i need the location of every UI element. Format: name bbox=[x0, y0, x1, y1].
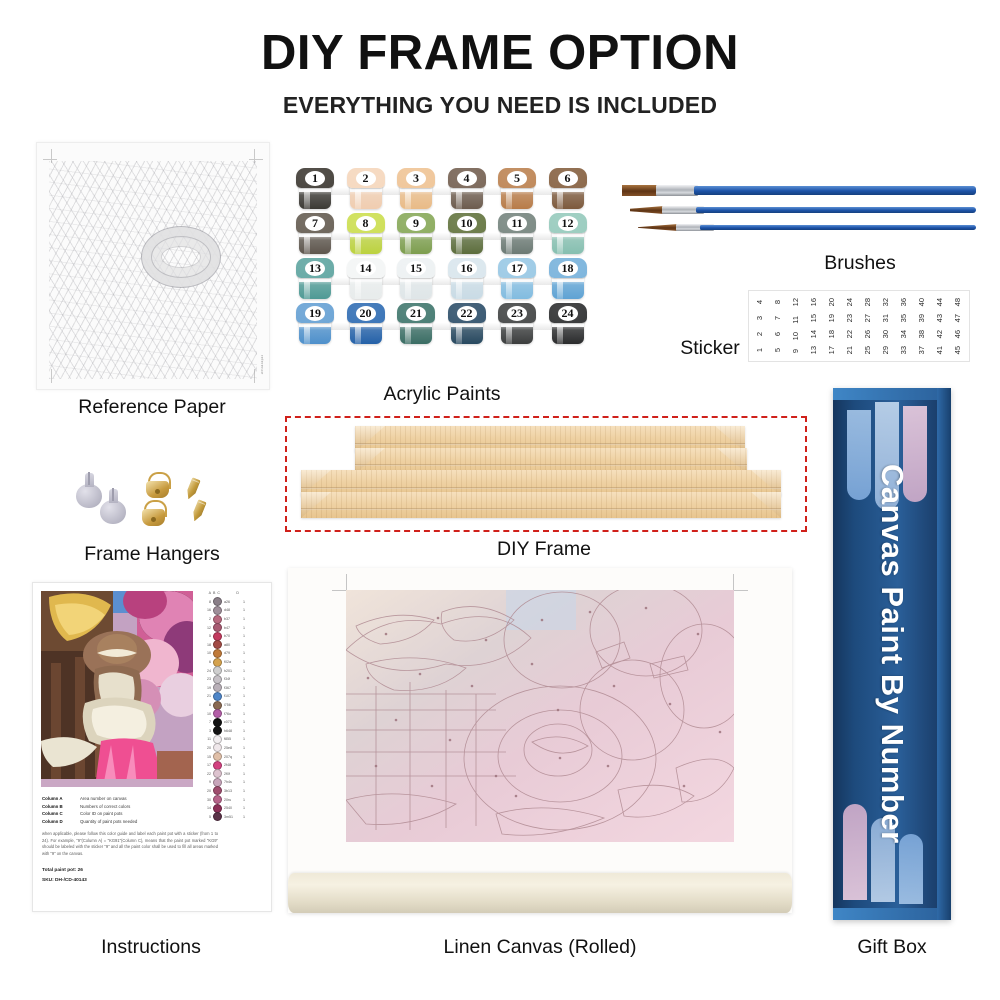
legend-color-code: b70 bbox=[224, 634, 241, 638]
sticker-number: 18 bbox=[828, 330, 836, 338]
legend-color-code: 20ru bbox=[224, 798, 241, 802]
legend-color-swatch bbox=[213, 709, 222, 718]
pot-number: 14 bbox=[347, 258, 385, 278]
legend-color-code: 2540 bbox=[224, 806, 241, 810]
legend-row: 6f02a1 bbox=[203, 658, 265, 667]
legend-area-number: 17 bbox=[203, 763, 211, 767]
pot-number: 11 bbox=[498, 213, 536, 233]
sticker-number: 20 bbox=[828, 298, 836, 306]
pot-highlight bbox=[506, 185, 512, 209]
pot-highlight bbox=[304, 275, 310, 299]
gift-box-line2: Paint By Number bbox=[875, 587, 910, 844]
pot-highlight bbox=[405, 185, 411, 209]
legend-quantity: 1 bbox=[243, 600, 249, 604]
legend-color-swatch bbox=[213, 683, 222, 692]
sticker-number: 25 bbox=[864, 346, 872, 354]
sticker-number: 14 bbox=[810, 330, 818, 338]
sticker-column-12: 45464748 bbox=[949, 294, 967, 358]
frame-plank bbox=[301, 492, 781, 518]
legend-quantity: 1 bbox=[243, 815, 249, 819]
paint-pot-row: 131415161718 bbox=[296, 258, 588, 303]
legend-color-code: i756 bbox=[224, 703, 241, 707]
sticker-number: 33 bbox=[900, 346, 908, 354]
caption-sticker: Sticker bbox=[655, 337, 765, 360]
legend-row: 5b701 bbox=[203, 632, 265, 641]
sticker-column-6: 21222324 bbox=[841, 294, 859, 358]
legend-area-number: 11 bbox=[203, 737, 211, 741]
sticker-number: 31 bbox=[882, 314, 890, 322]
sticker-number: 40 bbox=[918, 298, 926, 306]
page-title: DIY FRAME OPTION bbox=[0, 28, 1000, 79]
legend-row: 8a261 bbox=[203, 598, 265, 607]
legend-quantity: 1 bbox=[243, 755, 249, 759]
paint-pot-11: 11 bbox=[498, 213, 536, 256]
legend-color-swatch bbox=[213, 726, 222, 735]
sticker-number: 46 bbox=[954, 330, 962, 338]
legend-quantity: 1 bbox=[243, 626, 249, 630]
sticker-number: 6 bbox=[774, 332, 782, 336]
pot-number: 7 bbox=[296, 213, 334, 233]
sticker-number: 11 bbox=[792, 316, 800, 324]
sticker-number: 8 bbox=[774, 300, 782, 304]
pot-highlight bbox=[405, 320, 411, 344]
legend-row: 8i7561 bbox=[203, 701, 265, 710]
caption-instructions: Instructions bbox=[32, 936, 270, 959]
sticker-number: 47 bbox=[954, 314, 962, 322]
legend-color-code: b37 bbox=[224, 617, 241, 621]
paint-pot-7: 7 bbox=[296, 213, 334, 256]
sticker-number: 35 bbox=[900, 314, 908, 322]
legend-quantity: 1 bbox=[243, 737, 249, 741]
sticker-sheet-image: 1234567891011121314151617181920212223242… bbox=[748, 290, 970, 362]
paint-pot-24: 24 bbox=[549, 303, 587, 346]
paint-pot-1: 1 bbox=[296, 168, 334, 211]
pot-highlight bbox=[456, 320, 462, 344]
legend-area-number: 22 bbox=[203, 772, 211, 776]
pot-number: 17 bbox=[498, 258, 536, 278]
sticker-number: 7 bbox=[774, 316, 782, 320]
sticker-number: 30 bbox=[882, 330, 890, 338]
sticker-column-3: 9101112 bbox=[787, 294, 805, 358]
legend-color-code: f02a bbox=[224, 660, 241, 664]
legend-header: C bbox=[217, 591, 234, 595]
pot-number: 24 bbox=[549, 303, 587, 323]
caption-gift-box: Gift Box bbox=[833, 936, 951, 959]
instruction-column-text: Numbers of correct colors bbox=[80, 804, 130, 809]
brushes-image bbox=[616, 178, 976, 248]
legend-quantity: 1 bbox=[243, 763, 249, 767]
frame-hangers-image bbox=[72, 466, 232, 534]
legend-color-swatch bbox=[213, 769, 222, 778]
sticker-number: 34 bbox=[900, 330, 908, 338]
legend-quantity: 1 bbox=[243, 634, 249, 638]
legend-color-swatch bbox=[213, 692, 222, 701]
gift-box-image: Canvas Paint By Number bbox=[833, 388, 951, 920]
brush-liner bbox=[638, 225, 976, 230]
sticker-number: 12 bbox=[792, 298, 800, 306]
sticker-number: 41 bbox=[936, 346, 944, 354]
legend-quantity: 1 bbox=[243, 669, 249, 673]
instruction-column-label: Column B bbox=[42, 803, 80, 811]
sticker-number: 38 bbox=[918, 330, 926, 338]
legend-quantity: 1 bbox=[243, 729, 249, 733]
legend-color-code: f76u bbox=[224, 712, 241, 716]
page-subtitle: EVERYTHING YOU NEED IS INCLUDED bbox=[0, 92, 1000, 119]
pot-number: 15 bbox=[397, 258, 435, 278]
pot-number: 18 bbox=[549, 258, 587, 278]
pot-number: 20 bbox=[347, 303, 385, 323]
legend-row: 172f481 bbox=[203, 761, 265, 770]
legend-color-code: f34f bbox=[224, 677, 241, 681]
sticker-column-2: 5678 bbox=[769, 294, 787, 358]
sticker-number: 44 bbox=[936, 298, 944, 306]
sticker-column-5: 17181920 bbox=[823, 294, 841, 358]
pot-number: 21 bbox=[397, 303, 435, 323]
sticker-number: 45 bbox=[954, 346, 962, 354]
caption-reference-paper: Reference Paper bbox=[36, 396, 268, 419]
sticker-number: 37 bbox=[918, 346, 926, 354]
legend-header: B bbox=[213, 591, 215, 595]
gift-box-line1: Canvas bbox=[875, 464, 910, 577]
sticker-number: 43 bbox=[936, 314, 944, 322]
legend-area-number: 6 bbox=[203, 660, 211, 664]
legend-color-code: h201 bbox=[224, 669, 241, 673]
brush-round bbox=[630, 207, 976, 213]
sticker-number: 27 bbox=[864, 314, 872, 322]
legend-area-number: 7 bbox=[203, 720, 211, 724]
legend-row: 7c0731 bbox=[203, 718, 265, 727]
pot-number: 9 bbox=[397, 213, 435, 233]
sticker-number: 19 bbox=[828, 314, 836, 322]
screw-icon bbox=[190, 499, 207, 523]
paint-pot-12: 12 bbox=[549, 213, 587, 256]
legend-row: 2025e81 bbox=[203, 744, 265, 753]
legend-row: 2b371 bbox=[203, 615, 265, 624]
gift-box-label: Canvas Paint By Number bbox=[833, 388, 951, 920]
legend-color-code: c073 bbox=[224, 720, 241, 724]
d-ring-hanger-icon bbox=[142, 500, 165, 526]
legend-color-code: 2f0f bbox=[224, 772, 241, 776]
paint-pot-8: 8 bbox=[347, 213, 385, 256]
legend-quantity: 1 bbox=[243, 720, 249, 724]
caption-linen-canvas: Linen Canvas (Rolled) bbox=[288, 936, 792, 959]
caption-acrylic-paints: Acrylic Paints bbox=[296, 383, 588, 406]
legend-row: 12b471 bbox=[203, 623, 265, 632]
pot-number: 10 bbox=[448, 213, 486, 233]
legend-row: 18a801 bbox=[203, 641, 265, 650]
legend-area-number: 16 bbox=[203, 608, 211, 612]
preview-painting bbox=[41, 591, 193, 787]
legend-header: D bbox=[236, 591, 242, 595]
pot-highlight bbox=[506, 275, 512, 299]
instruction-column-row: Column AArea number on canvas bbox=[42, 795, 222, 803]
reference-line-art bbox=[49, 161, 257, 379]
legend-area-number: 24 bbox=[203, 669, 211, 673]
legend-area-number: 21 bbox=[203, 694, 211, 698]
legend-row: 15207q1 bbox=[203, 752, 265, 761]
pot-number: 4 bbox=[448, 168, 486, 188]
pot-highlight bbox=[355, 320, 361, 344]
total-paint-pot: Total paint pot: 26 bbox=[42, 866, 218, 876]
paint-pot-23: 23 bbox=[498, 303, 536, 346]
legend-color-code: 2f48 bbox=[224, 763, 241, 767]
pot-number: 8 bbox=[347, 213, 385, 233]
linen-canvas-image bbox=[288, 568, 792, 913]
legend-area-number: 12 bbox=[203, 626, 211, 630]
legend-quantity: 1 bbox=[243, 789, 249, 793]
legend-row: 10d791 bbox=[203, 649, 265, 658]
pot-highlight bbox=[557, 230, 563, 254]
canvas-roll bbox=[288, 873, 792, 913]
legend-row: 11f8551 bbox=[203, 735, 265, 744]
sticker-column-11: 41424344 bbox=[931, 294, 949, 358]
legend-area-number: 2 bbox=[203, 617, 211, 621]
pot-highlight bbox=[355, 275, 361, 299]
reference-sidebar-text: reference bbox=[260, 355, 265, 375]
legend-color-swatch bbox=[213, 666, 222, 675]
sticker-column-10: 37383940 bbox=[913, 294, 931, 358]
instructions-sheet-image: ABCD8a26116d4812b37112b4715b70118a80110d… bbox=[32, 582, 272, 912]
sticker-column-7: 25262728 bbox=[859, 294, 877, 358]
paint-pot-row: 192021222324 bbox=[296, 303, 588, 348]
pot-highlight bbox=[557, 320, 563, 344]
instruction-column-row: Column DQuantity of paint pots needed bbox=[42, 818, 222, 826]
sticker-number: 22 bbox=[846, 330, 854, 338]
paint-pot-20: 20 bbox=[347, 303, 385, 346]
pot-highlight bbox=[456, 185, 462, 209]
caption-diy-frame: DIY Frame bbox=[285, 538, 803, 561]
legend-quantity: 1 bbox=[243, 617, 249, 621]
instruction-column-text: Area number on canvas bbox=[80, 796, 127, 801]
sticker-number: 15 bbox=[810, 314, 818, 322]
sticker-number: 3 bbox=[756, 316, 764, 320]
legend-area-number: 15 bbox=[203, 755, 211, 759]
sticker-number: 42 bbox=[936, 330, 944, 338]
paint-pot-row: 789101112 bbox=[296, 213, 588, 258]
paint-pot-19: 19 bbox=[296, 303, 334, 346]
sticker-number: 29 bbox=[882, 346, 890, 354]
pot-highlight bbox=[557, 275, 563, 299]
sticker-number: 17 bbox=[828, 346, 836, 354]
legend-area-number: 20 bbox=[203, 746, 211, 750]
legend-row: 222f0f1 bbox=[203, 769, 265, 778]
legend-row: 10f76u1 bbox=[203, 709, 265, 718]
reference-hat-outline bbox=[141, 226, 221, 288]
pot-highlight bbox=[506, 230, 512, 254]
instructions-column-key: Column AArea number on canvasColumn BNum… bbox=[42, 795, 222, 825]
legend-color-code: h648 bbox=[224, 729, 241, 733]
pot-number: 6 bbox=[549, 168, 587, 188]
sticker-number: 26 bbox=[864, 330, 872, 338]
legend-row: 97h4s1 bbox=[203, 778, 265, 787]
canvas-printed-outline bbox=[346, 590, 734, 842]
pot-number: 1 bbox=[296, 168, 334, 188]
paint-pot-5: 5 bbox=[498, 168, 536, 211]
screw-icon bbox=[184, 477, 201, 501]
pot-highlight bbox=[304, 230, 310, 254]
legend-header: A bbox=[203, 591, 211, 595]
legend-color-code: 3b13 bbox=[224, 789, 241, 793]
paint-pot-18: 18 bbox=[549, 258, 587, 301]
paint-pot-15: 15 bbox=[397, 258, 435, 301]
pot-number: 13 bbox=[296, 258, 334, 278]
pot-highlight bbox=[456, 230, 462, 254]
paint-pot-4: 4 bbox=[448, 168, 486, 211]
paint-pot-22: 22 bbox=[448, 303, 486, 346]
legend-area-number: 10 bbox=[203, 651, 211, 655]
pot-highlight bbox=[405, 230, 411, 254]
brush-flat bbox=[622, 186, 976, 195]
pot-number: 23 bbox=[498, 303, 536, 323]
pot-highlight bbox=[304, 185, 310, 209]
legend-area-number: 3 bbox=[203, 729, 211, 733]
legend-quantity: 1 bbox=[243, 780, 249, 784]
legend-quantity: 1 bbox=[243, 686, 249, 690]
legend-area-number: 20 bbox=[203, 789, 211, 793]
legend-quantity: 1 bbox=[243, 772, 249, 776]
sku-text: SKU: DH-/CD-40143 bbox=[42, 876, 218, 886]
pot-highlight bbox=[506, 320, 512, 344]
legend-color-code: a80 bbox=[224, 643, 241, 647]
legend-quantity: 1 bbox=[243, 806, 249, 810]
legend-color-swatch bbox=[213, 623, 222, 632]
legend-color-code: f367 bbox=[224, 686, 241, 690]
pot-highlight bbox=[456, 275, 462, 299]
caption-brushes: Brushes bbox=[770, 252, 950, 275]
sticker-column-4: 13141516 bbox=[805, 294, 823, 358]
legend-area-number: 23 bbox=[203, 677, 211, 681]
pot-highlight bbox=[557, 185, 563, 209]
instruction-column-text: Quantity of paint pots needed bbox=[80, 819, 137, 824]
legend-area-number: 18 bbox=[203, 643, 211, 647]
canvas-line-art bbox=[346, 590, 734, 842]
sticker-column-9: 33343536 bbox=[895, 294, 913, 358]
paint-pot-row: 123456 bbox=[296, 168, 588, 213]
legend-quantity: 1 bbox=[243, 677, 249, 681]
legend-quantity: 1 bbox=[243, 798, 249, 802]
legend-color-code: f855 bbox=[224, 737, 241, 741]
legend-color-code: d79 bbox=[224, 651, 241, 655]
legend-area-number: 5 bbox=[203, 634, 211, 638]
legend-quantity: 1 bbox=[243, 746, 249, 750]
instruction-column-text: Color ID on paint pots bbox=[80, 811, 122, 816]
pot-number: 16 bbox=[448, 258, 486, 278]
pot-number: 5 bbox=[498, 168, 536, 188]
sticker-number: 32 bbox=[882, 298, 890, 306]
legend-quantity: 1 bbox=[243, 712, 249, 716]
instruction-column-label: Column C bbox=[42, 810, 80, 818]
legend-area-number: 10 bbox=[203, 712, 211, 716]
pot-highlight bbox=[405, 275, 411, 299]
sticker-number: 9 bbox=[792, 349, 800, 353]
legend-color-code: f107 bbox=[224, 694, 241, 698]
pot-number: 3 bbox=[397, 168, 435, 188]
paint-pot-9: 9 bbox=[397, 213, 435, 256]
pot-highlight bbox=[304, 320, 310, 344]
instruction-column-row: Column CColor ID on paint pots bbox=[42, 810, 222, 818]
pot-highlight bbox=[355, 185, 361, 209]
pot-number: 19 bbox=[296, 303, 334, 323]
sticker-number: 21 bbox=[846, 346, 854, 354]
paint-pot-21: 21 bbox=[397, 303, 435, 346]
acrylic-paint-pots: 123456789101112131415161718192021222324 bbox=[296, 168, 588, 348]
paint-pot-3: 3 bbox=[397, 168, 435, 211]
reference-paper-image: reference bbox=[36, 142, 270, 390]
d-ring-hanger-icon bbox=[146, 472, 169, 498]
sticker-number: 2 bbox=[756, 332, 764, 336]
sticker-number: 10 bbox=[792, 332, 800, 340]
pot-number: 2 bbox=[347, 168, 385, 188]
instructions-note-text: when applicable, please follow this colo… bbox=[42, 831, 218, 858]
paint-pot-16: 16 bbox=[448, 258, 486, 301]
legend-color-swatch bbox=[213, 752, 222, 761]
legend-quantity: 1 bbox=[243, 660, 249, 664]
legend-color-code: 25e8 bbox=[224, 746, 241, 750]
legend-color-code: 3m51 bbox=[224, 815, 241, 819]
legend-color-code: 7h4s bbox=[224, 780, 241, 784]
legend-row: 23f34f1 bbox=[203, 675, 265, 684]
paint-pot-13: 13 bbox=[296, 258, 334, 301]
paint-pot-14: 14 bbox=[347, 258, 385, 301]
legend-color-code: a26 bbox=[224, 600, 241, 604]
sticker-number: 24 bbox=[846, 298, 854, 306]
instructions-color-legend: ABCD8a26116d4812b37112b4715b70118a80110d… bbox=[203, 589, 265, 829]
legend-color-code: 207q bbox=[224, 755, 241, 759]
legend-row: 19f3671 bbox=[203, 684, 265, 693]
pot-highlight bbox=[355, 230, 361, 254]
wall-plug-icon bbox=[76, 484, 102, 508]
legend-color-code: b47 bbox=[224, 626, 241, 630]
pot-number: 22 bbox=[448, 303, 486, 323]
sticker-number: 5 bbox=[774, 348, 782, 352]
legend-quantity: 1 bbox=[243, 643, 249, 647]
legend-row: 21f1071 bbox=[203, 692, 265, 701]
legend-row: 3h6481 bbox=[203, 727, 265, 736]
paint-pot-10: 10 bbox=[448, 213, 486, 256]
legend-quantity: 1 bbox=[243, 651, 249, 655]
legend-row: 203b131 bbox=[203, 787, 265, 796]
legend-area-number: 8 bbox=[203, 703, 211, 707]
paint-pot-17: 17 bbox=[498, 258, 536, 301]
legend-row: 24h2011 bbox=[203, 666, 265, 675]
sticker-number: 36 bbox=[900, 298, 908, 306]
sticker-number: 23 bbox=[846, 314, 854, 322]
wall-plug-icon bbox=[100, 500, 126, 524]
diy-frame-image bbox=[285, 416, 807, 532]
legend-quantity: 1 bbox=[243, 694, 249, 698]
instructions-preview-art bbox=[41, 591, 193, 787]
sticker-number: 16 bbox=[810, 298, 818, 306]
instruction-column-label: Column D bbox=[42, 818, 80, 826]
sticker-number: 4 bbox=[756, 300, 764, 304]
instruction-column-label: Column A bbox=[42, 795, 80, 803]
sticker-number: 39 bbox=[918, 314, 926, 322]
paint-pot-2: 2 bbox=[347, 168, 385, 211]
legend-header-row: ABCD bbox=[203, 589, 265, 598]
legend-row: 16d481 bbox=[203, 606, 265, 615]
legend-color-swatch bbox=[213, 606, 222, 615]
sticker-number: 13 bbox=[810, 346, 818, 354]
paint-pot-6: 6 bbox=[549, 168, 587, 211]
product-infographic: DIY FRAME OPTION EVERYTHING YOU NEED IS … bbox=[0, 0, 1000, 1000]
legend-area-number: 19 bbox=[203, 686, 211, 690]
legend-quantity: 1 bbox=[243, 703, 249, 707]
sticker-column-8: 29303132 bbox=[877, 294, 895, 358]
caption-frame-hangers: Frame Hangers bbox=[36, 543, 268, 566]
legend-quantity: 1 bbox=[243, 608, 249, 612]
legend-area-number: 9 bbox=[203, 780, 211, 784]
legend-color-swatch bbox=[213, 649, 222, 658]
